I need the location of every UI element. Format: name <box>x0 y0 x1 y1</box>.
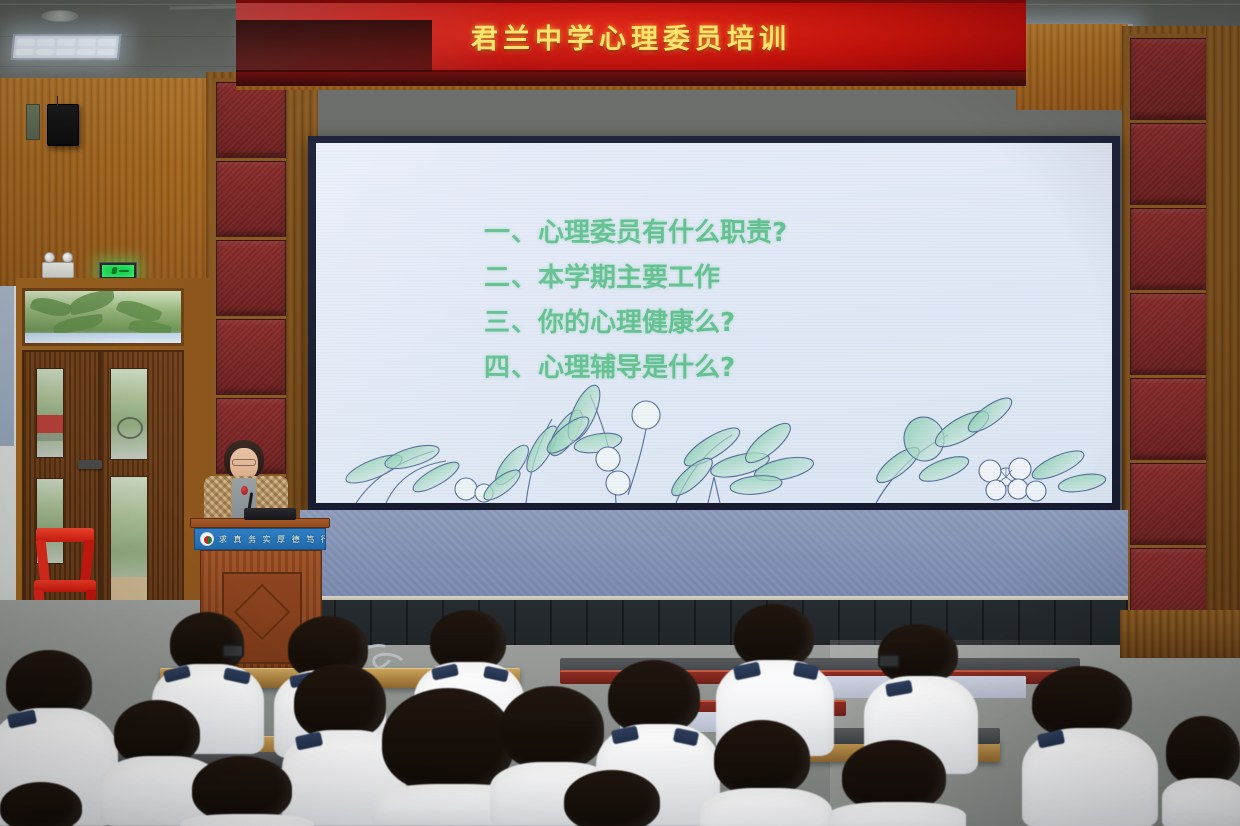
slide-line-text: 本学期主要工作 <box>538 263 720 293</box>
botanical-decoration-icon <box>316 373 1112 503</box>
presenter-glasses-icon <box>232 459 256 466</box>
slide-line-text: 心理委员有什么职责? <box>538 218 787 248</box>
student <box>0 782 90 826</box>
door-glass-pane <box>110 368 148 460</box>
lecture-hall-photo: 君兰中学心理委员培训 一、心理委员有什么职责? 二、本学期主要工作 三、你的心理… <box>0 0 1240 826</box>
floor-skirting-right <box>1120 610 1240 658</box>
student <box>832 740 960 826</box>
acoustic-panel-column-right <box>1126 34 1212 644</box>
student-glasses-icon <box>878 654 900 668</box>
ceiling-light-panel <box>11 34 122 60</box>
wall-speaker-icon <box>47 104 79 146</box>
student <box>560 770 670 826</box>
laptop <box>244 508 296 520</box>
slide-line-number: 二、 <box>484 263 538 293</box>
projection-screen-frame: 一、心理委员有什么职责? 二、本学期主要工作 三、你的心理健康么? 四、心理辅导… <box>308 136 1120 510</box>
banner-title: 君兰中学心理委员培训 <box>471 17 791 56</box>
slide-line: 一、心理委员有什么职责? <box>484 211 787 256</box>
emergency-lamp <box>62 252 73 263</box>
emergency-lamp <box>44 252 55 263</box>
wood-wall-upper-right <box>1016 24 1128 110</box>
door-glass-pane <box>36 368 64 458</box>
slide-line: 三、你的心理健康么? <box>484 301 787 346</box>
slide-line-text: 你的心理健康么? <box>538 308 735 338</box>
podium-name-plate: 求 真 务 实 厚 德 笃 行 <box>194 528 326 550</box>
door-handle[interactable] <box>78 460 102 469</box>
student <box>1166 716 1240 826</box>
door-glass-pane <box>110 476 148 604</box>
door-transom-window <box>22 288 184 346</box>
student-glasses-icon <box>222 644 244 658</box>
student <box>186 756 306 826</box>
left-wall-blue-strip <box>0 286 14 446</box>
slide-line: 二、本学期主要工作 <box>484 256 787 301</box>
microphone-icon <box>241 486 248 495</box>
wall-mount-bracket <box>26 104 40 140</box>
stage-back-wall <box>300 510 1128 602</box>
student <box>1022 666 1154 826</box>
slide-text-block: 一、心理委员有什么职责? 二、本学期主要工作 三、你的心理健康么? 四、心理辅导… <box>484 211 787 391</box>
school-emblem-icon <box>200 532 214 546</box>
podium-motto: 求 真 务 实 厚 德 笃 行 <box>219 534 326 545</box>
slide-line-number: 一、 <box>484 218 538 248</box>
emergency-light-icon <box>42 262 74 278</box>
ceiling-downlight <box>42 10 78 22</box>
wood-trim-far-right <box>1206 26 1240 666</box>
projection-screen: 一、心理委员有什么职责? 二、本学期主要工作 三、你的心理健康么? 四、心理辅导… <box>316 143 1112 503</box>
student <box>706 720 826 826</box>
slide-line-number: 三、 <box>484 308 538 338</box>
